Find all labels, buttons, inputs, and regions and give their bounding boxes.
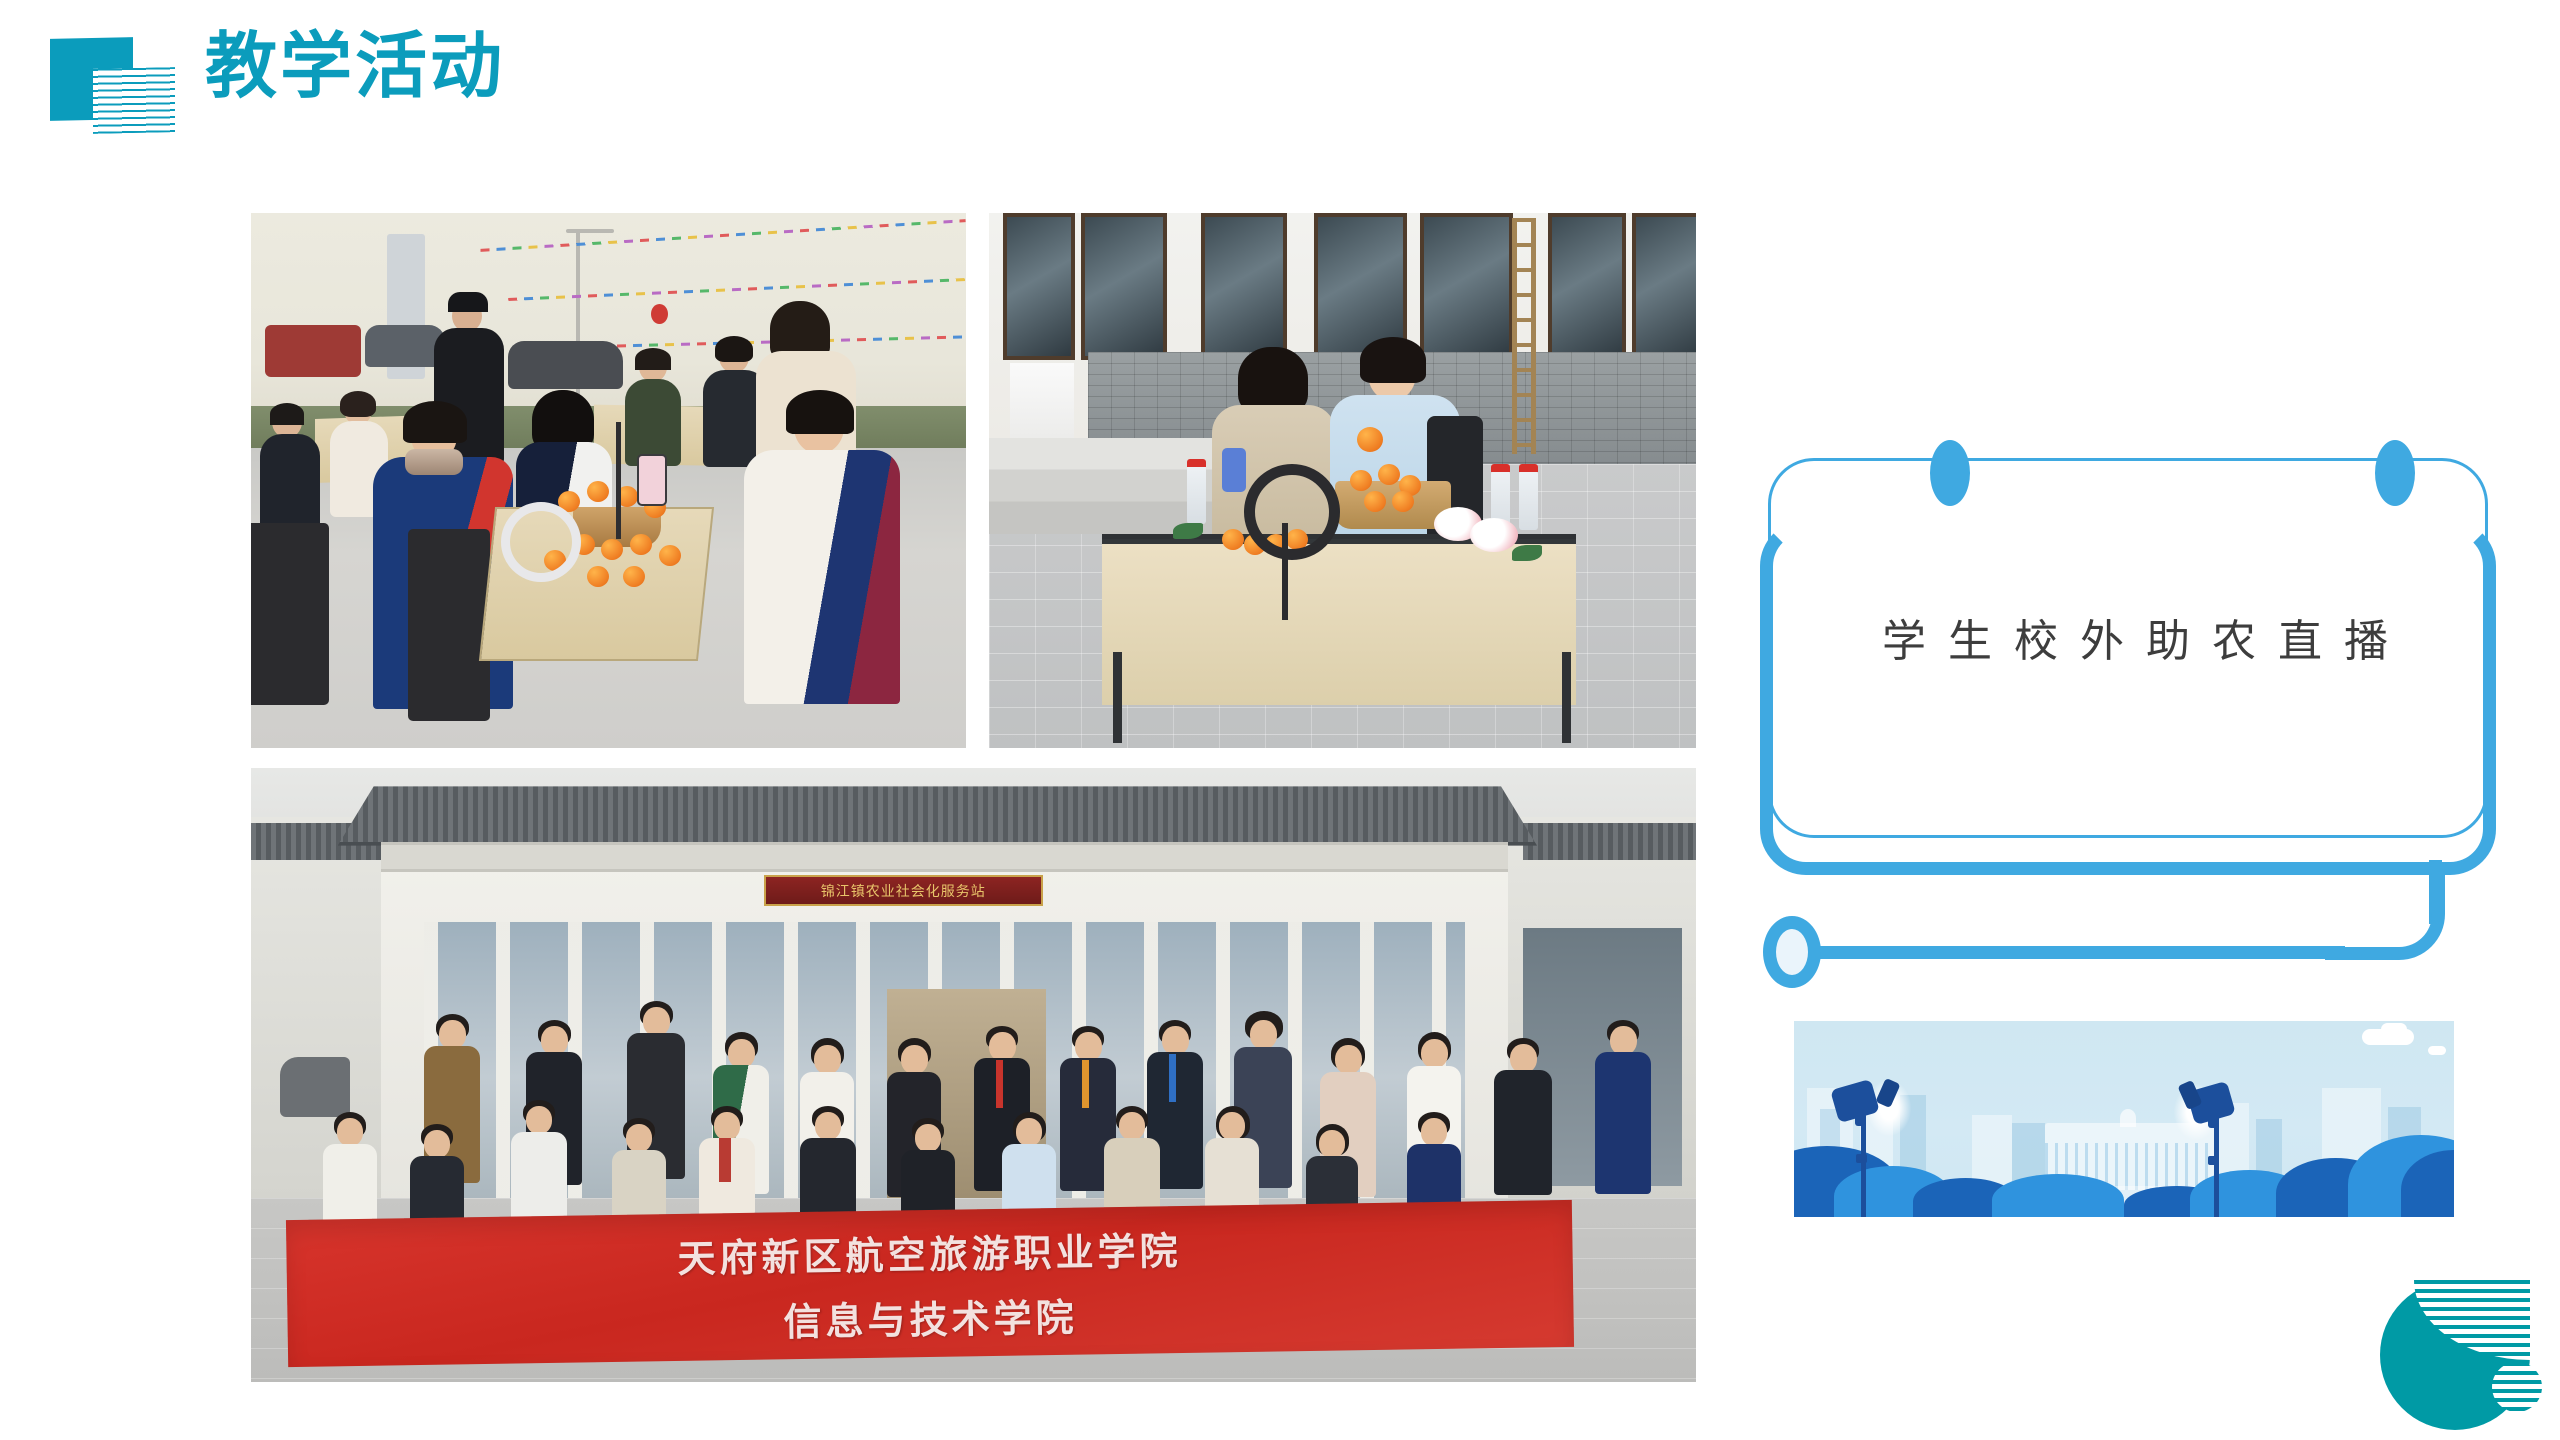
- photo-b-leaf: [1512, 545, 1542, 561]
- photo-a-car-center: [508, 341, 623, 389]
- photo-c-person: [1595, 1020, 1651, 1223]
- blob-striped-dot: [2492, 1362, 2542, 1412]
- photo-b-desk-leg: [1113, 652, 1122, 743]
- photo-b-orange: [1350, 470, 1372, 491]
- photo-a-ring-light: [501, 502, 581, 582]
- photo-a-tricycle: [265, 325, 361, 377]
- document-stack-icon: [50, 38, 175, 133]
- pin-pill-icon-right: [2375, 440, 2415, 506]
- photo-a-orange: [623, 566, 645, 587]
- photo-c-person: [1494, 1038, 1552, 1216]
- teal-striped-blob: [2380, 1270, 2560, 1440]
- photo-b-window: [1420, 213, 1513, 360]
- photo-a-streetlight-arm: [566, 229, 614, 233]
- photo-b-window: [1548, 213, 1627, 360]
- cloud-icon: [2381, 1023, 2407, 1036]
- photo-a-person-white-jacket: [744, 400, 904, 742]
- photo-two-hosts-livestream: [989, 213, 1696, 748]
- photo-b-ladder: [1512, 218, 1536, 453]
- light-stand-clamp: [2208, 1156, 2219, 1165]
- slide-header: 教学活动: [0, 0, 700, 170]
- photo-c-banner-line-2: 信息与技术学院: [783, 1286, 1078, 1346]
- photo-b-flower-bouquet: [1470, 518, 1518, 552]
- ring-node-icon: [1763, 916, 1821, 988]
- photo-c-red-banner: 天府新区航空旅游职业学院 信息与技术学院: [286, 1200, 1574, 1368]
- photo-b-orange-slice: [1222, 529, 1244, 550]
- photo-b-window: [1201, 213, 1287, 360]
- photo-b-window: [1632, 213, 1696, 360]
- photo-c-entablature: [381, 842, 1508, 873]
- photo-b-window: [1081, 213, 1167, 360]
- caption-card: 学生校外助农直播: [1740, 430, 2560, 1020]
- photo-b-orange: [1364, 491, 1386, 512]
- page-title: 教学活动: [205, 22, 505, 112]
- caption-text: 学生校外助农直播: [1740, 605, 2530, 669]
- photo-b-bottle-cap: [1491, 464, 1510, 472]
- photo-a-tripod: [616, 422, 621, 540]
- light-stand: [2214, 1125, 2219, 1217]
- photo-b-window: [1003, 213, 1075, 360]
- photo-b-bottle-cap: [1519, 464, 1538, 472]
- photo-a-chair: [408, 529, 490, 722]
- light-stand-clamp: [1856, 1154, 1867, 1163]
- studio-lights-cityscape-illustration: [1794, 1021, 2454, 1217]
- photo-c-tiled-roof: [338, 786, 1537, 845]
- caption-frame-thick: [1760, 520, 2496, 875]
- photo-c-building-sign: 锦江镇农业社会化服务站: [764, 875, 1043, 906]
- photo-c-banner-line-1: 天府新区航空旅游职业学院: [677, 1220, 1182, 1283]
- photo-b-phone: [1222, 448, 1246, 492]
- photo-group-banner: 锦江镇农业社会化服务站: [251, 768, 1696, 1382]
- logo-lined-sheet: [93, 67, 175, 134]
- photo-a-orange: [587, 481, 609, 502]
- photo-b-water-bottle: [1519, 470, 1538, 530]
- photo-students-orange-livestream: [251, 213, 966, 748]
- photo-b-desk-leg: [1562, 652, 1571, 743]
- photo-b-ring-light: [1244, 464, 1340, 560]
- photo-c-roof-right: [1523, 823, 1696, 860]
- photo-c-building-sign-text: 锦江镇农业社会化服务站: [821, 881, 986, 901]
- caption-frame-mask: [1774, 508, 2482, 534]
- photo-a-orange: [659, 545, 681, 566]
- photo-b-water-bottle: [1187, 464, 1206, 524]
- photo-a-phone: [637, 454, 667, 506]
- photo-b-ring-light-stand: [1282, 523, 1288, 619]
- light-stand: [1861, 1123, 1866, 1217]
- pin-pill-icon-left: [1930, 440, 1970, 506]
- photo-b-desk: [1102, 539, 1576, 705]
- photo-a-orange: [587, 566, 609, 587]
- photo-b-bottle-cap: [1187, 459, 1206, 467]
- cloud-icon: [2428, 1046, 2446, 1055]
- caption-tail-horizontal: [1805, 946, 2345, 959]
- photo-b-held-orange: [1357, 427, 1383, 452]
- photo-a-chair: [251, 523, 329, 705]
- photo-c-scooter: [280, 1057, 350, 1117]
- photo-a-orange: [630, 534, 652, 555]
